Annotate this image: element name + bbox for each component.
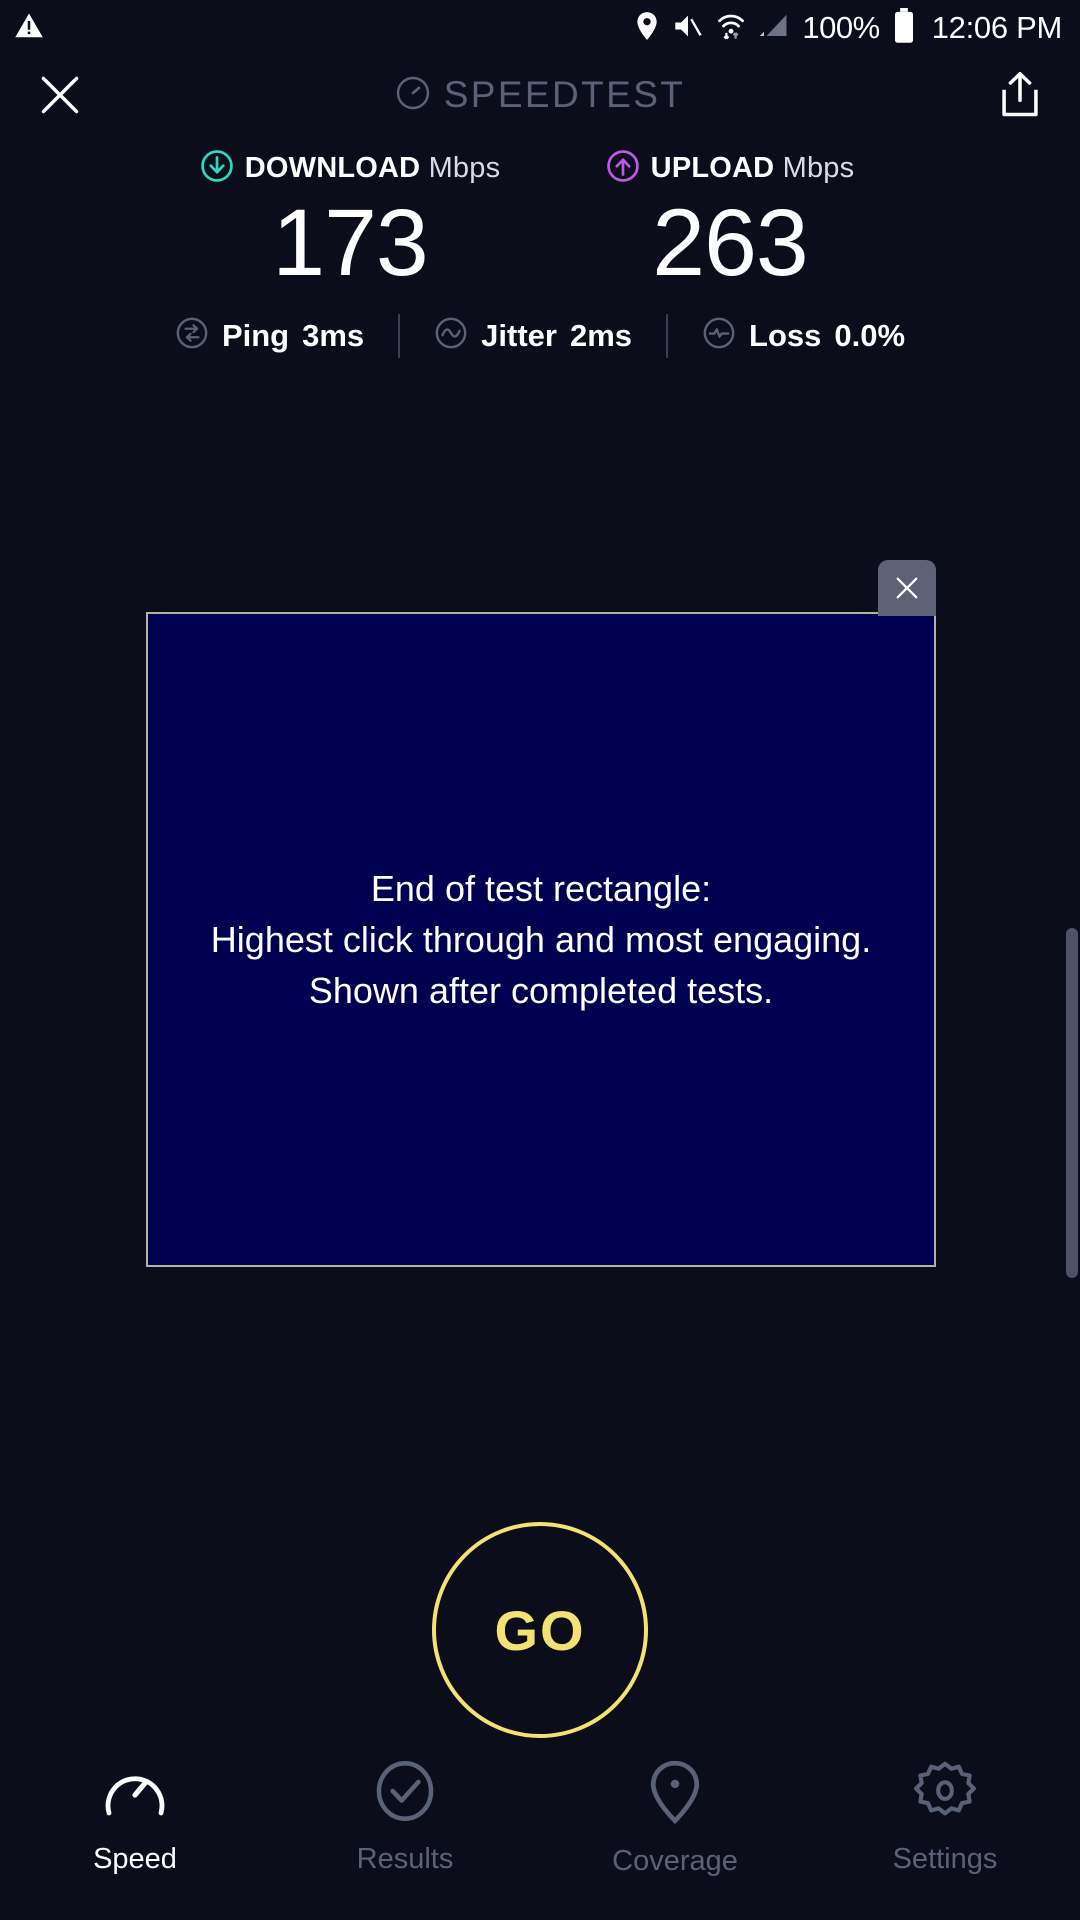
ping-value: 3ms — [302, 318, 364, 354]
network-quality-row: Ping 3ms Jitter 2ms — [0, 308, 1080, 364]
loss-pulse-icon — [702, 316, 736, 355]
app-header: SPEEDTEST — [0, 56, 1080, 134]
ad-line-1: End of test rectangle: — [211, 863, 871, 914]
nav-label-settings: Settings — [893, 1843, 998, 1876]
speed-metrics-row: DOWNLOAD Mbps 173 UPLOAD Mbps 263 — [0, 134, 1080, 294]
speedometer-icon — [395, 75, 431, 116]
scrollbar[interactable] — [1066, 928, 1078, 1278]
nav-item-coverage[interactable]: Coverage — [540, 1760, 810, 1878]
ping-metric: Ping 3ms — [141, 316, 398, 355]
download-value: 173 — [160, 194, 540, 294]
close-button[interactable] — [30, 65, 90, 125]
download-metric: DOWNLOAD Mbps 173 — [160, 146, 540, 294]
upload-header: UPLOAD Mbps — [540, 146, 920, 190]
test-results-panel: DOWNLOAD Mbps 173 UPLOAD Mbps 263 — [0, 134, 1080, 364]
upload-label: UPLOAD Mbps — [651, 152, 855, 185]
jitter-wave-icon — [434, 316, 468, 355]
cellular-signal-icon — [759, 12, 789, 45]
go-button[interactable]: GO — [432, 1522, 648, 1738]
download-label: DOWNLOAD Mbps — [245, 152, 501, 185]
go-button-label: GO — [494, 1598, 585, 1663]
status-bar-right: 100% 12:06 PM — [634, 8, 1062, 49]
advertisement-container: End of test rectangle: Highest click thr… — [146, 612, 936, 1267]
share-button[interactable] — [990, 65, 1050, 125]
speedtest-app-screen: 100% 12:06 PM SPEEDTEST — [0, 0, 1080, 1920]
nav-label-results: Results — [357, 1843, 454, 1876]
ad-line-3: Shown after completed tests. — [211, 965, 871, 1016]
upload-metric: UPLOAD Mbps 263 — [540, 146, 920, 294]
clock-label: 12:06 PM — [932, 10, 1062, 46]
close-x-icon — [38, 73, 82, 117]
download-arrow-icon — [200, 149, 234, 188]
nav-label-coverage: Coverage — [612, 1845, 738, 1878]
share-upload-icon — [999, 72, 1041, 118]
loss-label: Loss — [749, 318, 821, 354]
battery-percent-label: 100% — [802, 10, 879, 46]
nav-label-speed: Speed — [93, 1843, 177, 1876]
jitter-label: Jitter — [481, 318, 557, 354]
jitter-metric: Jitter 2ms — [400, 316, 666, 355]
ad-text: End of test rectangle: Highest click thr… — [197, 863, 885, 1016]
nav-item-settings[interactable]: Settings — [810, 1760, 1080, 1876]
loss-value: 0.0% — [834, 318, 905, 354]
jitter-value: 2ms — [570, 318, 632, 354]
status-bar-left — [14, 11, 44, 46]
speedometer-icon — [103, 1760, 167, 1827]
warning-triangle-icon — [14, 11, 44, 46]
upload-value: 263 — [540, 194, 920, 294]
ad-close-button[interactable] — [878, 560, 936, 616]
status-bar: 100% 12:06 PM — [0, 0, 1080, 56]
volume-mute-icon — [673, 12, 703, 45]
download-header: DOWNLOAD Mbps — [160, 146, 540, 190]
wifi-transfer-icon — [716, 11, 746, 46]
close-x-icon — [893, 574, 921, 602]
ad-banner[interactable]: End of test rectangle: Highest click thr… — [146, 612, 936, 1267]
bottom-navigation-bar: Speed Results Coverage — [0, 1742, 1080, 1920]
nav-item-speed[interactable]: Speed — [0, 1760, 270, 1876]
battery-full-icon — [893, 8, 915, 49]
gear-icon — [914, 1760, 976, 1827]
ping-icon — [175, 316, 209, 355]
ping-label: Ping — [222, 318, 289, 354]
upload-arrow-icon — [606, 149, 640, 188]
nav-item-results[interactable]: Results — [270, 1760, 540, 1876]
app-title-group: SPEEDTEST — [0, 56, 1080, 134]
location-pin-icon — [634, 11, 660, 46]
ad-line-2: Highest click through and most engaging. — [211, 914, 871, 965]
loss-metric: Loss 0.0% — [668, 316, 939, 355]
map-pin-icon — [647, 1760, 703, 1829]
page-title: SPEEDTEST — [444, 74, 686, 116]
check-circle-icon — [374, 1760, 436, 1827]
